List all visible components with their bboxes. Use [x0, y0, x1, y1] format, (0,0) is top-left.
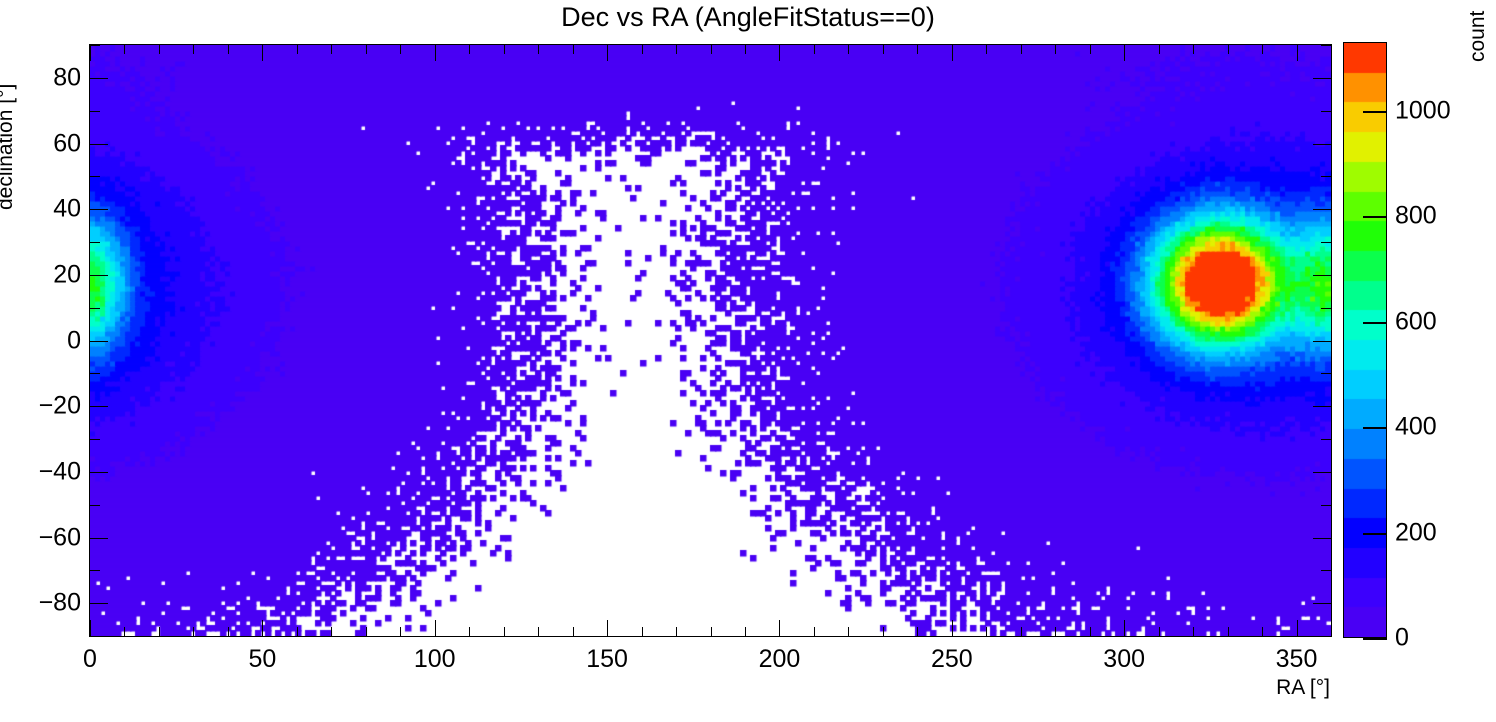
palette-tick-label: 200	[1395, 518, 1437, 547]
x-tick	[400, 45, 401, 54]
y-tick	[90, 144, 108, 145]
y-tick-label: −60	[39, 523, 81, 552]
y-tick-label: 60	[53, 129, 81, 158]
histogram-canvas	[90, 45, 1331, 636]
y-tick	[90, 439, 100, 440]
x-tick	[573, 45, 574, 54]
y-tick	[90, 275, 108, 276]
palette-tick-label: 400	[1395, 413, 1437, 442]
y-axis-title: declination [°]	[0, 84, 18, 210]
y-tick	[1313, 603, 1331, 604]
y-tick	[90, 176, 100, 177]
x-tick-label: 250	[931, 645, 973, 674]
y-tick	[1313, 538, 1331, 539]
x-tick	[469, 627, 470, 636]
x-tick	[124, 45, 125, 54]
x-tick-label: 150	[586, 645, 628, 674]
y-tick-label: 20	[53, 260, 81, 289]
x-tick	[159, 45, 160, 54]
x-tick	[1124, 45, 1125, 61]
x-tick	[1159, 627, 1160, 636]
x-tick	[1055, 627, 1056, 636]
y-tick	[1321, 570, 1331, 571]
y-tick-label: −80	[39, 589, 81, 618]
palette-tick-label: 600	[1395, 307, 1437, 336]
y-tick-label: 80	[53, 63, 81, 92]
x-tick	[1055, 45, 1056, 54]
plot-frame	[89, 44, 1332, 637]
x-tick	[711, 627, 712, 636]
y-tick-label: 40	[53, 195, 81, 224]
x-tick	[573, 627, 574, 636]
x-tick-label: 100	[414, 645, 456, 674]
y-tick	[1321, 242, 1331, 243]
palette-title: count	[1466, 11, 1490, 62]
x-tick	[366, 45, 367, 54]
x-tick	[1090, 627, 1091, 636]
x-tick	[331, 45, 332, 54]
palette-tick-label: 0	[1395, 624, 1409, 653]
x-tick	[676, 627, 677, 636]
x-tick	[607, 45, 608, 61]
y-tick	[1313, 472, 1331, 473]
x-tick-label: 50	[248, 645, 276, 674]
x-tick	[952, 45, 953, 61]
palette-tick	[1363, 533, 1387, 535]
y-tick	[1321, 111, 1331, 112]
x-tick-label: 0	[83, 645, 97, 674]
x-tick	[848, 627, 849, 636]
page-title: Dec vs RA (AngleFitStatus==0)	[0, 2, 1496, 33]
x-tick	[779, 45, 780, 61]
x-tick	[228, 45, 229, 54]
x-axis-title: RA [°]	[1276, 676, 1330, 700]
x-tick	[1193, 627, 1194, 636]
x-tick-label: 350	[1276, 645, 1318, 674]
palette-tick-label: 1000	[1395, 96, 1451, 125]
x-tick	[193, 45, 194, 54]
x-tick	[1159, 45, 1160, 54]
y-tick	[90, 242, 100, 243]
y-tick	[90, 308, 100, 309]
y-tick	[1313, 144, 1331, 145]
y-tick	[1321, 373, 1331, 374]
x-tick	[1262, 45, 1263, 54]
y-tick	[90, 636, 100, 637]
x-tick	[1297, 45, 1298, 61]
x-tick	[1262, 627, 1263, 636]
x-tick	[814, 45, 815, 54]
x-tick	[124, 627, 125, 636]
x-tick	[986, 45, 987, 54]
x-tick	[607, 620, 608, 636]
x-tick	[297, 627, 298, 636]
y-tick	[90, 341, 108, 342]
x-tick	[262, 620, 263, 636]
x-tick	[228, 627, 229, 636]
x-tick	[435, 620, 436, 636]
root-canvas: Dec vs RA (AngleFitStatus==0) 806040200−…	[0, 0, 1496, 722]
x-tick	[1021, 627, 1022, 636]
palette-ticks	[1343, 42, 1387, 638]
palette-tick	[1363, 427, 1387, 429]
x-tick	[952, 620, 953, 636]
x-tick	[435, 45, 436, 61]
y-tick	[90, 406, 108, 407]
y-tick-label: 0	[67, 326, 81, 355]
x-tick	[883, 45, 884, 54]
x-tick	[642, 627, 643, 636]
x-tick	[848, 45, 849, 54]
x-tick	[1331, 45, 1332, 54]
y-tick	[90, 538, 108, 539]
x-tick	[1331, 627, 1332, 636]
x-tick	[193, 627, 194, 636]
y-tick-label: −20	[39, 392, 81, 421]
y-tick	[1321, 439, 1331, 440]
palette-tick	[1363, 111, 1387, 113]
palette-tick	[1363, 638, 1387, 640]
palette-tick	[1363, 216, 1387, 218]
y-tick	[90, 45, 100, 46]
x-tick	[676, 45, 677, 54]
x-tick	[814, 627, 815, 636]
x-tick	[1228, 45, 1229, 54]
x-tick	[745, 45, 746, 54]
x-tick-label: 200	[759, 645, 801, 674]
x-tick	[1124, 620, 1125, 636]
x-tick	[1297, 620, 1298, 636]
x-tick	[504, 627, 505, 636]
x-tick	[90, 620, 91, 636]
y-tick	[1321, 505, 1331, 506]
y-tick	[90, 570, 100, 571]
x-tick	[469, 45, 470, 54]
x-tick	[331, 627, 332, 636]
y-tick	[1321, 45, 1331, 46]
y-tick	[1313, 341, 1331, 342]
x-tick	[1228, 627, 1229, 636]
x-tick	[711, 45, 712, 54]
x-tick	[917, 45, 918, 54]
x-tick	[262, 45, 263, 61]
y-tick-label: −40	[39, 457, 81, 486]
y-tick	[90, 78, 108, 79]
y-tick	[90, 505, 100, 506]
x-tick	[883, 627, 884, 636]
y-tick	[1313, 78, 1331, 79]
x-tick	[1193, 45, 1194, 54]
x-tick	[1021, 45, 1022, 54]
y-tick	[1321, 176, 1331, 177]
x-tick	[400, 627, 401, 636]
x-tick	[90, 45, 91, 61]
x-tick	[366, 627, 367, 636]
y-tick	[90, 472, 108, 473]
x-tick	[917, 627, 918, 636]
x-tick	[1090, 45, 1091, 54]
y-tick	[90, 111, 100, 112]
x-tick	[297, 45, 298, 54]
x-tick	[504, 45, 505, 54]
y-tick	[1313, 275, 1331, 276]
x-tick	[986, 627, 987, 636]
y-tick	[1313, 406, 1331, 407]
x-tick	[538, 627, 539, 636]
x-tick-label: 300	[1103, 645, 1145, 674]
y-tick	[1321, 308, 1331, 309]
y-tick	[90, 373, 100, 374]
x-tick	[159, 627, 160, 636]
palette-tick	[1363, 322, 1387, 324]
palette-tick-label: 800	[1395, 202, 1437, 231]
y-tick	[90, 603, 108, 604]
y-tick	[90, 209, 108, 210]
x-tick	[642, 45, 643, 54]
x-tick	[779, 620, 780, 636]
x-tick	[538, 45, 539, 54]
y-tick	[1321, 636, 1331, 637]
x-tick	[745, 627, 746, 636]
y-tick	[1313, 209, 1331, 210]
